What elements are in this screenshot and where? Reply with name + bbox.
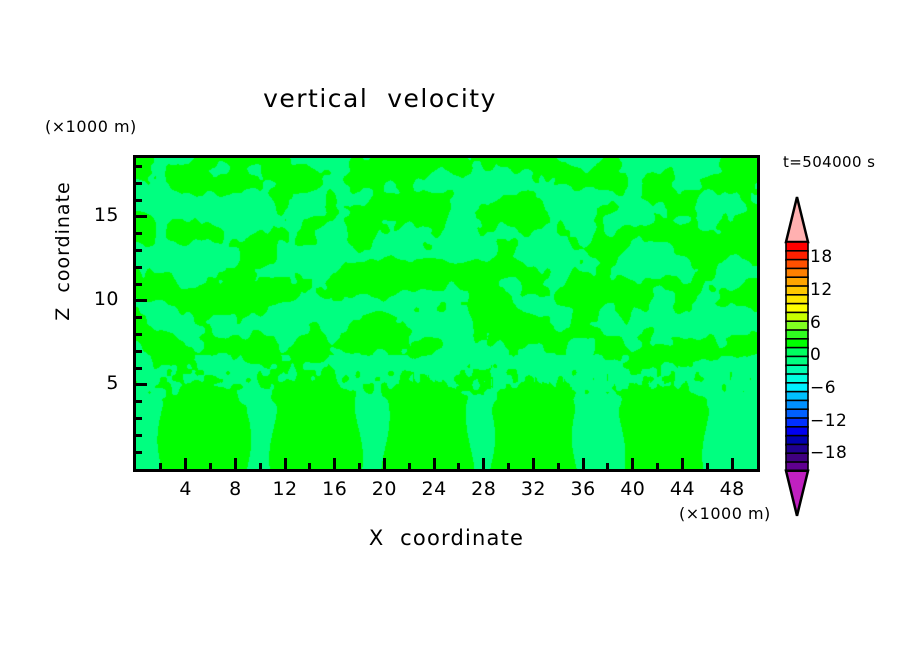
colorbar-tick-label: 0 xyxy=(810,345,821,365)
y-tick xyxy=(136,383,147,386)
colorbar-band xyxy=(786,436,808,445)
y-axis-units-label: (×1000 m) xyxy=(45,117,137,136)
contour-field xyxy=(136,158,757,469)
y-tick xyxy=(136,400,142,403)
x-tick xyxy=(209,463,212,469)
colorbar-band xyxy=(786,268,808,277)
colorbar-top-cap xyxy=(786,197,808,242)
colorbar-band xyxy=(786,312,808,321)
y-tick xyxy=(136,333,142,336)
y-tick xyxy=(136,350,142,353)
colorbar-band xyxy=(786,286,808,295)
y-tick xyxy=(136,232,142,235)
colorbar-band xyxy=(786,453,808,462)
x-tick xyxy=(358,463,361,469)
colorbar-band xyxy=(786,427,808,436)
x-tick xyxy=(457,463,460,469)
x-tick xyxy=(507,463,510,469)
y-tick xyxy=(136,299,147,302)
colorbar-tick-label: −6 xyxy=(810,378,836,398)
colorbar-band xyxy=(786,295,808,304)
x-tick xyxy=(606,463,609,469)
colorbar-tick-label: −18 xyxy=(810,443,847,463)
x-tick xyxy=(631,458,634,469)
x-tick xyxy=(681,458,684,469)
y-tick xyxy=(136,165,142,168)
y-tick xyxy=(136,283,142,286)
y-tick xyxy=(136,417,142,420)
x-tick-label: 48 xyxy=(702,478,762,500)
colorbar-band xyxy=(786,418,808,427)
page-title: vertical velocity xyxy=(0,84,760,113)
y-tick xyxy=(136,249,142,252)
x-tick xyxy=(532,458,535,469)
colorbar-band xyxy=(786,277,808,286)
y-tick xyxy=(136,199,142,202)
x-axis-title: X coordinate xyxy=(133,526,760,550)
colorbar-swatches xyxy=(782,196,812,517)
y-tick xyxy=(136,215,147,218)
x-tick xyxy=(383,458,386,469)
colorbar-band xyxy=(786,400,808,409)
y-tick xyxy=(136,367,142,370)
colorbar-tick-label: 6 xyxy=(810,313,821,333)
x-tick xyxy=(234,458,237,469)
colorbar-band xyxy=(786,365,808,374)
y-tick-label: 10 xyxy=(75,288,119,310)
timestamp-label: t=504000 s xyxy=(783,153,875,171)
y-tick xyxy=(136,316,142,319)
colorbar-band xyxy=(786,242,808,251)
colorbar-band xyxy=(786,444,808,453)
y-tick xyxy=(136,266,142,269)
colorbar-tick-label: 18 xyxy=(810,247,833,267)
colorbar-band xyxy=(786,374,808,383)
colorbar-band xyxy=(786,348,808,357)
colorbar-band xyxy=(786,339,808,348)
y-tick xyxy=(136,182,142,185)
x-tick xyxy=(408,463,411,469)
x-tick xyxy=(582,458,585,469)
colorbar-band xyxy=(786,321,808,330)
x-tick xyxy=(433,458,436,469)
x-tick xyxy=(259,463,262,469)
x-tick xyxy=(731,458,734,469)
colorbar-bottom-cap xyxy=(786,471,808,516)
colorbar-band xyxy=(786,409,808,418)
colorbar-band xyxy=(786,260,808,269)
y-tick xyxy=(136,451,142,454)
x-tick xyxy=(333,458,336,469)
colorbar-tick-label: 12 xyxy=(810,280,833,300)
x-tick xyxy=(706,463,709,469)
colorbar-band xyxy=(786,251,808,260)
colorbar-band xyxy=(786,304,808,313)
y-tick xyxy=(136,434,142,437)
x-tick xyxy=(656,463,659,469)
x-axis-units-label: (×1000 m) xyxy=(679,504,771,523)
y-tick-label: 5 xyxy=(75,372,119,394)
x-tick xyxy=(557,463,560,469)
x-tick xyxy=(284,458,287,469)
colorbar-band xyxy=(786,383,808,392)
x-tick xyxy=(482,458,485,469)
colorbar-band xyxy=(786,330,808,339)
y-axis-title: Z coordinate xyxy=(52,171,74,331)
y-tick-label: 15 xyxy=(75,204,119,226)
contour-plot-area[interactable] xyxy=(133,155,760,472)
x-tick xyxy=(184,458,187,469)
x-tick xyxy=(159,463,162,469)
x-tick xyxy=(308,463,311,469)
colorbar[interactable] xyxy=(782,196,812,517)
colorbar-tick-label: −12 xyxy=(810,411,847,431)
colorbar-band xyxy=(786,356,808,365)
colorbar-band xyxy=(786,392,808,401)
